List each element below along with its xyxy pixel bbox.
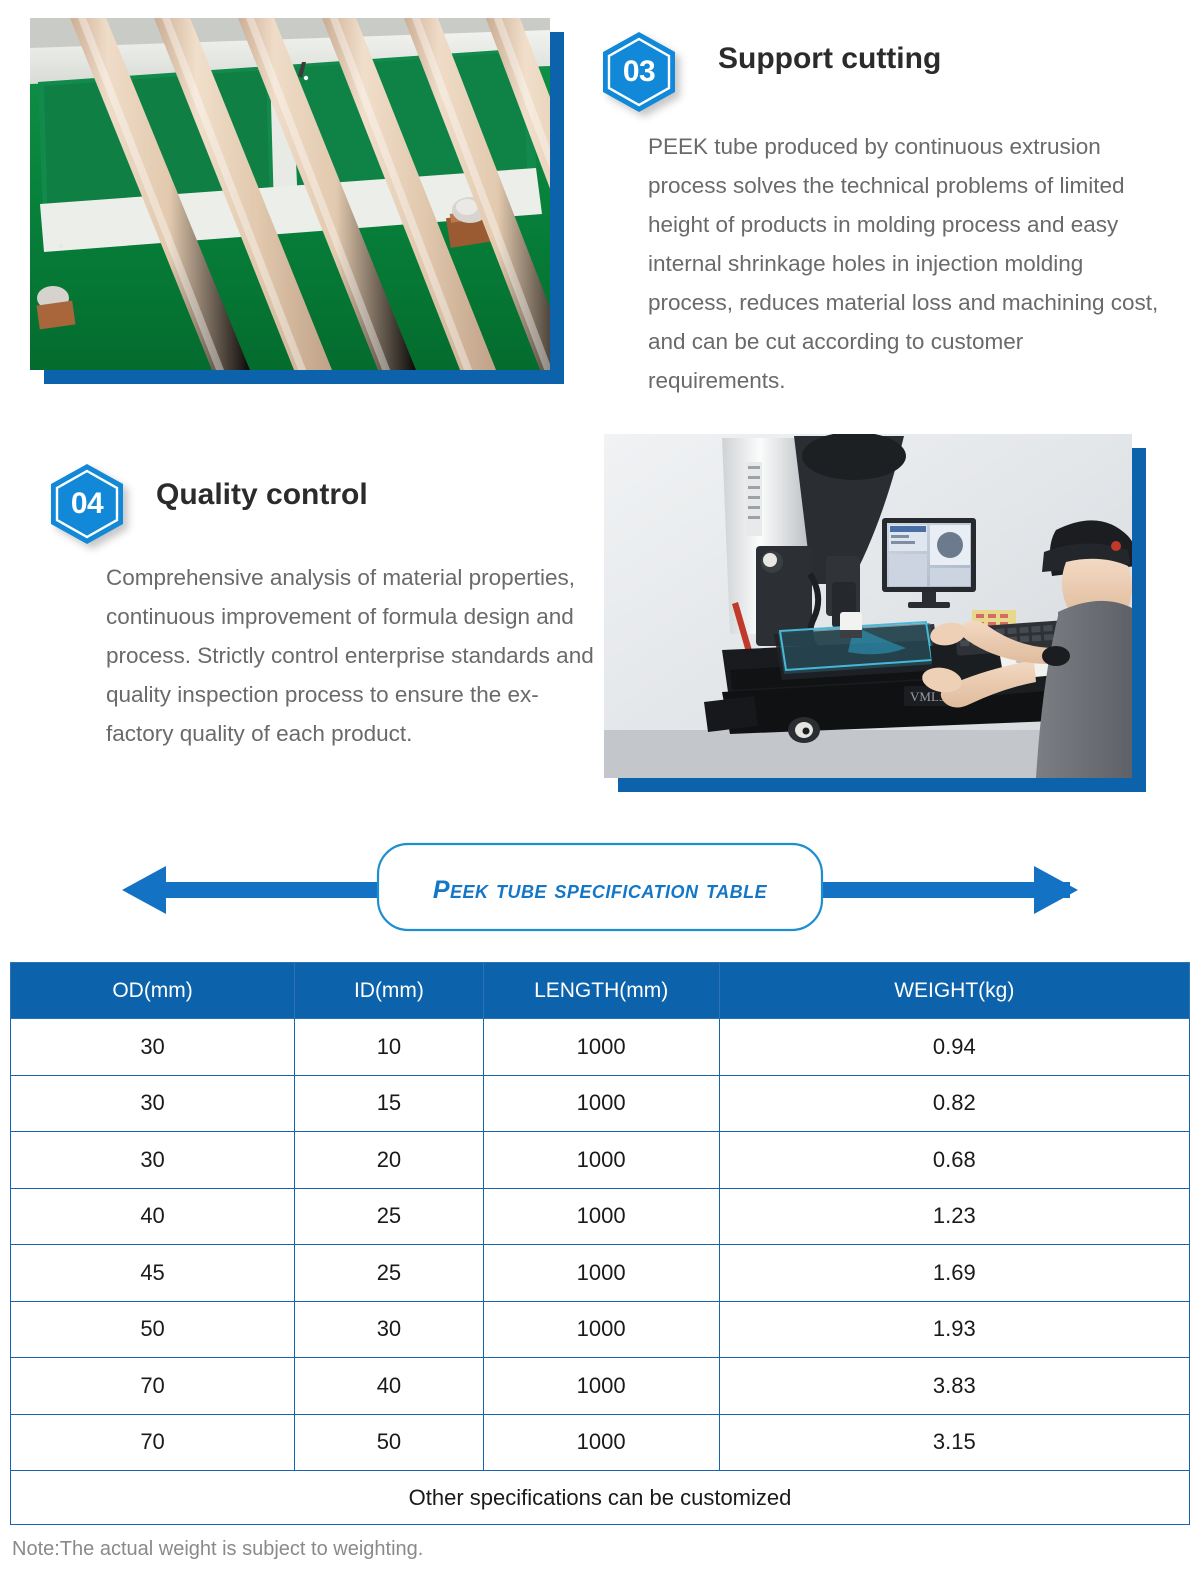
table-row: 30 15 1000 0.82 <box>11 1075 1190 1132</box>
cell-length: 1000 <box>483 1019 719 1076</box>
cell-weight: 1.69 <box>719 1245 1189 1302</box>
section-body-quality-control: Comprehensive analysis of material prope… <box>106 558 606 753</box>
cell-length: 1000 <box>483 1358 719 1415</box>
cell-length: 1000 <box>483 1188 719 1245</box>
cell-weight: 1.23 <box>719 1188 1189 1245</box>
section-title-quality-control: Quality control <box>156 478 368 512</box>
table-row: 30 10 1000 0.94 <box>11 1019 1190 1076</box>
cell-od: 50 <box>11 1301 295 1358</box>
badge-number: 04 <box>48 462 126 546</box>
cell-weight: 0.68 <box>719 1132 1189 1189</box>
cell-length: 1000 <box>483 1132 719 1189</box>
inspection-photo-frame: VML300 <box>604 434 1132 778</box>
peek-tube-spec-table: OD(mm) ID(mm) LENGTH(mm) WEIGHT(kg) 30 1… <box>10 962 1190 1525</box>
cell-id: 10 <box>295 1019 484 1076</box>
cell-weight: 1.93 <box>719 1301 1189 1358</box>
table-row: 70 50 1000 3.15 <box>11 1414 1190 1471</box>
cell-weight: 3.15 <box>719 1414 1189 1471</box>
peek-tubes-photo-frame <box>30 18 550 370</box>
cell-id: 30 <box>295 1301 484 1358</box>
table-row: 50 30 1000 1.93 <box>11 1301 1190 1358</box>
column-header-weight: WEIGHT(kg) <box>719 963 1189 1019</box>
column-header-id: ID(mm) <box>295 963 484 1019</box>
peek-tubes-photo <box>30 18 550 370</box>
column-header-od: OD(mm) <box>11 963 295 1019</box>
table-row: 70 40 1000 3.83 <box>11 1358 1190 1415</box>
cell-od: 70 <box>11 1414 295 1471</box>
cell-od: 30 <box>11 1132 295 1189</box>
peek-tubes-illustration <box>30 18 550 370</box>
table-footer-row: Other specifications can be customized <box>11 1471 1190 1525</box>
section-body-support-cutting: PEEK tube produced by continuous extrusi… <box>648 127 1160 400</box>
table-row: 45 25 1000 1.69 <box>11 1245 1190 1302</box>
cell-od: 70 <box>11 1358 295 1415</box>
cell-id: 20 <box>295 1132 484 1189</box>
cell-od: 30 <box>11 1019 295 1076</box>
cell-length: 1000 <box>483 1245 719 1302</box>
table-row: 30 20 1000 0.68 <box>11 1132 1190 1189</box>
section-badge-03: 03 <box>600 30 678 114</box>
cell-weight: 0.94 <box>719 1019 1189 1076</box>
table-footer: Other specifications can be customized <box>11 1471 1190 1525</box>
cell-weight: 3.83 <box>719 1358 1189 1415</box>
spec-table-arrow-banner <box>0 838 1200 942</box>
cell-id: 40 <box>295 1358 484 1415</box>
column-header-length: LENGTH(mm) <box>483 963 719 1019</box>
table-row: 40 25 1000 1.23 <box>11 1188 1190 1245</box>
section-title-support-cutting: Support cutting <box>718 42 941 76</box>
cell-length: 1000 <box>483 1414 719 1471</box>
table-body: 30 10 1000 0.94 30 15 1000 0.82 30 20 10… <box>11 1019 1190 1471</box>
section-badge-04: 04 <box>48 462 126 546</box>
cell-weight: 0.82 <box>719 1075 1189 1132</box>
cell-od: 45 <box>11 1245 295 1302</box>
cell-length: 1000 <box>483 1075 719 1132</box>
inspection-illustration: VML300 <box>604 434 1132 778</box>
weight-disclaimer-note: Note:The actual weight is subject to wei… <box>12 1538 423 1561</box>
cell-od: 40 <box>11 1188 295 1245</box>
double-arrow-icon <box>0 838 1200 942</box>
cell-length: 1000 <box>483 1301 719 1358</box>
customization-note: Other specifications can be customized <box>11 1471 1190 1525</box>
cell-od: 30 <box>11 1075 295 1132</box>
cell-id: 50 <box>295 1414 484 1471</box>
badge-number: 03 <box>600 30 678 114</box>
cell-id: 25 <box>295 1245 484 1302</box>
cell-id: 25 <box>295 1188 484 1245</box>
table-header-row: OD(mm) ID(mm) LENGTH(mm) WEIGHT(kg) <box>11 963 1190 1019</box>
inspection-photo: VML300 <box>604 434 1132 778</box>
cell-id: 15 <box>295 1075 484 1132</box>
